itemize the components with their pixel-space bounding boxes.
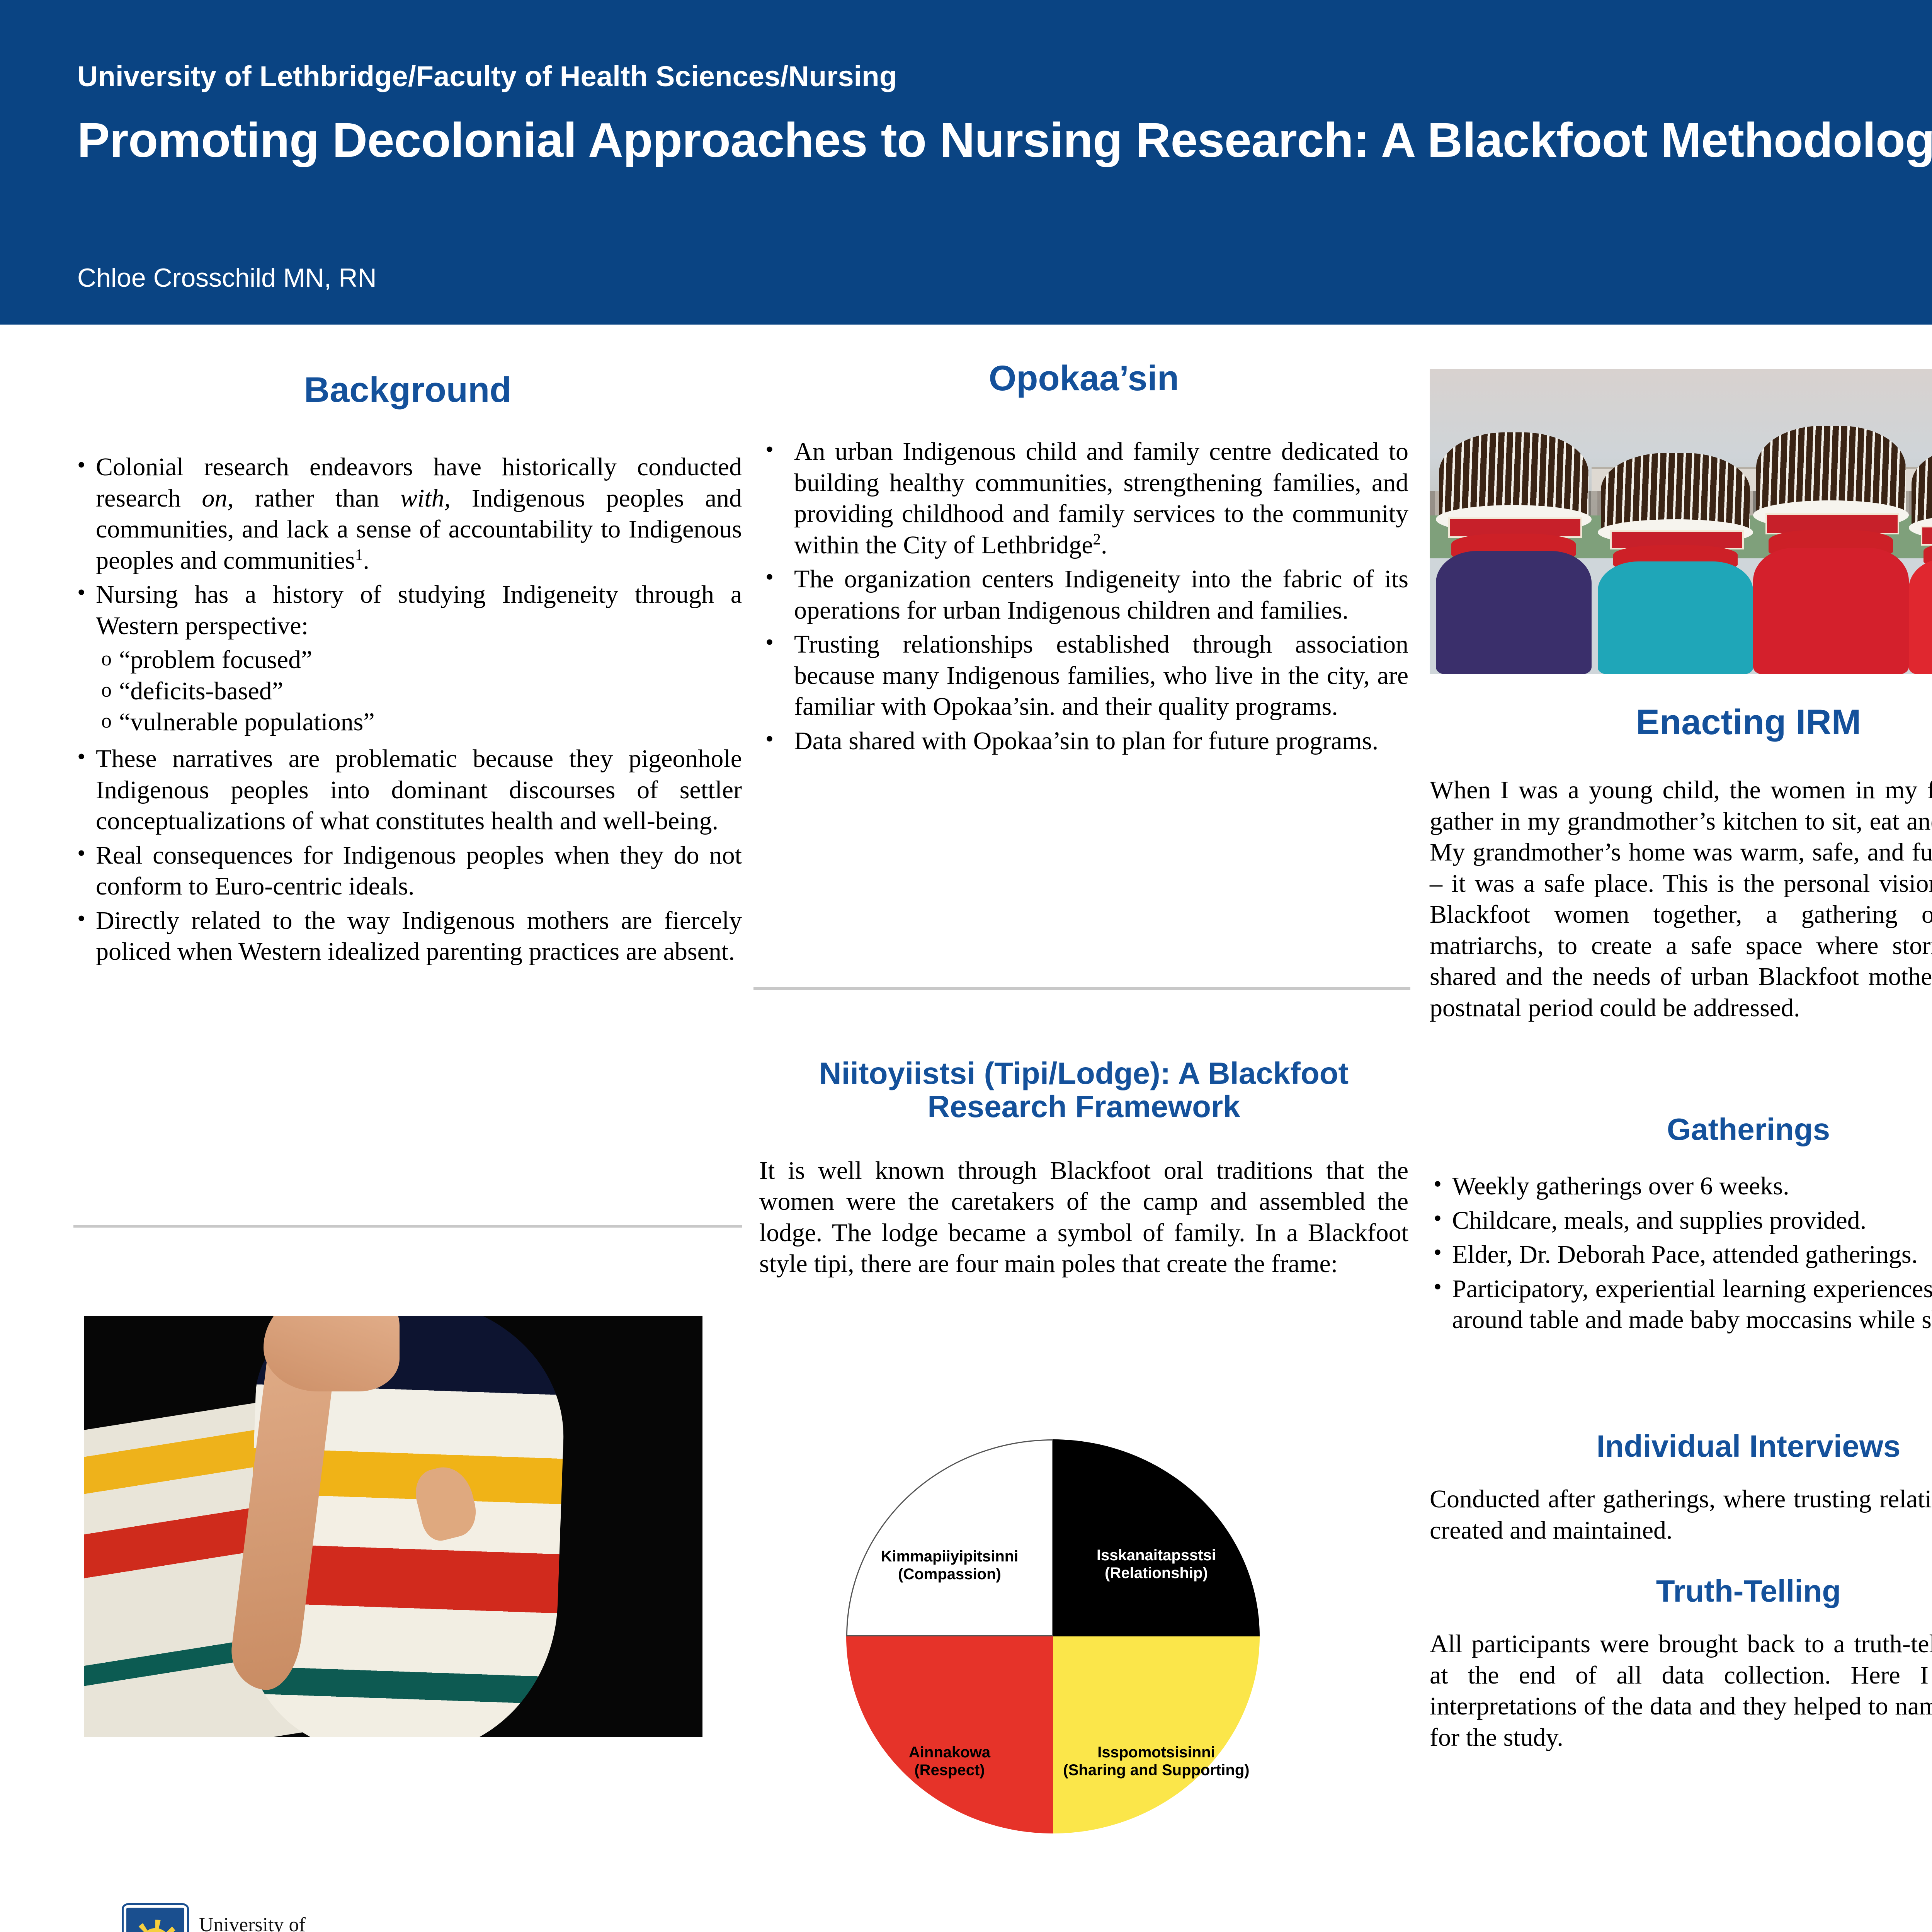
column-background: Background Colonial research endeavors h… (73, 371, 742, 971)
column-gatherings: Gatherings Weekly gatherings over 6 week… (1430, 1113, 1932, 1339)
column-niitoyiistsi: Niitoyiistsi (Tipi/Lodge): A Blackfoot R… (759, 1057, 1408, 1280)
quadrant-respect: Ainnakowa (Respect) (846, 1636, 1053, 1833)
truth-telling-heading: Truth-Telling (1430, 1575, 1932, 1608)
list-item: Directly related to the way Indigenous m… (73, 905, 742, 968)
list-item: The organization centers Indigeneity int… (759, 564, 1408, 626)
quadrant-sharing-supporting: Isspomotsisinni (Sharing and Supporting) (1053, 1636, 1260, 1833)
truth-telling-paragraph: All participants were brought back to a … (1430, 1629, 1932, 1753)
opokaasin-heading: Opokaa’sin (759, 359, 1408, 398)
dancer-figure (1909, 467, 1932, 674)
powwow-dancers-photo (1430, 369, 1932, 674)
niitoyiistsi-heading: Niitoyiistsi (Tipi/Lodge): A Blackfoot R… (759, 1057, 1408, 1124)
quadrant-translation: (Sharing and Supporting) (1059, 1762, 1253, 1779)
gatherings-heading: Gatherings (1430, 1113, 1932, 1146)
column-enacting-irm: Enacting IRM When I was a young child, t… (1430, 703, 1932, 1024)
list-item: “problem focused” (73, 645, 742, 676)
university-of-lethbridge-logo: FIAT LUX University of Lethbridge (124, 1905, 417, 1932)
author-name: Chloe Crosschild MN, RN (77, 263, 377, 293)
list-item: Childcare, meals, and supplies provided. (1430, 1205, 1932, 1236)
quadrant-translation: (Respect) (852, 1762, 1047, 1779)
list-item: “deficits-based” (73, 676, 742, 707)
poster-title: Promoting Decolonial Approaches to Nursi… (77, 112, 1932, 168)
individual-interviews-heading: Individual Interviews (1430, 1430, 1932, 1463)
column-individual-interviews: Individual Interviews Conducted after ga… (1430, 1430, 1932, 1546)
enacting-irm-paragraph: When I was a young child, the women in m… (1430, 775, 1932, 1024)
quadrant-name: Isskanaitapsstsi (1059, 1547, 1253, 1565)
quadrant-name: Kimmapiiyipitsinni (854, 1548, 1046, 1566)
list-item: Nursing has a history of studying Indige… (73, 579, 742, 641)
quadrant-name: Isspomotsisinni (1059, 1744, 1253, 1762)
list-item: “vulnerable populations” (73, 707, 742, 738)
background-heading: Background (73, 371, 742, 409)
affiliation-line: University of Lethbridge/Faculty of Heal… (77, 60, 897, 93)
shield-icon (124, 1905, 187, 1932)
poster-header-banner: University of Lethbridge/Faculty of Heal… (0, 0, 1932, 325)
list-item: Data shared with Opokaa’sin to plan for … (759, 726, 1408, 757)
blanket-pregnancy-photo (84, 1316, 702, 1737)
list-item: Weekly gatherings over 6 weeks. (1430, 1171, 1932, 1202)
column-truth-telling: Truth-Telling All participants were brou… (1430, 1575, 1932, 1753)
niitoyiistsi-paragraph: It is well known through Blackfoot oral … (759, 1155, 1408, 1280)
quadrant-name: Ainnakowa (852, 1744, 1047, 1762)
list-item: Trusting relationships established throu… (759, 629, 1408, 723)
background-bullet-list: Colonial research endeavors have histori… (73, 452, 742, 967)
dancer-figure (1753, 448, 1909, 674)
sun-icon (140, 1928, 170, 1932)
list-item: Colonial research endeavors have histori… (73, 452, 742, 576)
quadrant-translation: (Compassion) (854, 1566, 1046, 1583)
column-divider (73, 1225, 742, 1228)
university-wordmark: University of Lethbridge (199, 1915, 342, 1932)
list-item: Participatory, experiential learning exp… (1430, 1274, 1932, 1336)
enacting-irm-heading: Enacting IRM (1430, 703, 1932, 742)
quadrant-translation: (Relationship) (1059, 1565, 1253, 1582)
quadrant-compassion: Kimmapiiyipitsinni (Compassion) (846, 1439, 1053, 1636)
quadrant-relationship: Isskanaitapsstsi (Relationship) (1053, 1439, 1260, 1636)
dancer-figure (1436, 454, 1592, 674)
column-opokaasin: Opokaa’sin An urban Indigenous child and… (759, 359, 1408, 760)
column-divider (753, 987, 1410, 990)
list-item: Elder, Dr. Deborah Pace, attended gather… (1430, 1239, 1932, 1270)
wordmark-line-1: University of (199, 1915, 342, 1932)
individual-interviews-paragraph: Conducted after gatherings, where trusti… (1430, 1484, 1932, 1546)
list-item: Real consequences for Indigenous peoples… (73, 840, 742, 902)
dancer-figure (1598, 473, 1753, 674)
opokaasin-bullet-list: An urban Indigenous child and family cen… (759, 436, 1408, 757)
list-item: An urban Indigenous child and family cen… (759, 436, 1408, 561)
tipi-framework-diagram: Kimmapiiyipitsinni (Compassion) Isskanai… (846, 1439, 1260, 1833)
gatherings-bullet-list: Weekly gatherings over 6 weeks. Childcar… (1430, 1171, 1932, 1336)
list-item: These narratives are problematic because… (73, 743, 742, 837)
